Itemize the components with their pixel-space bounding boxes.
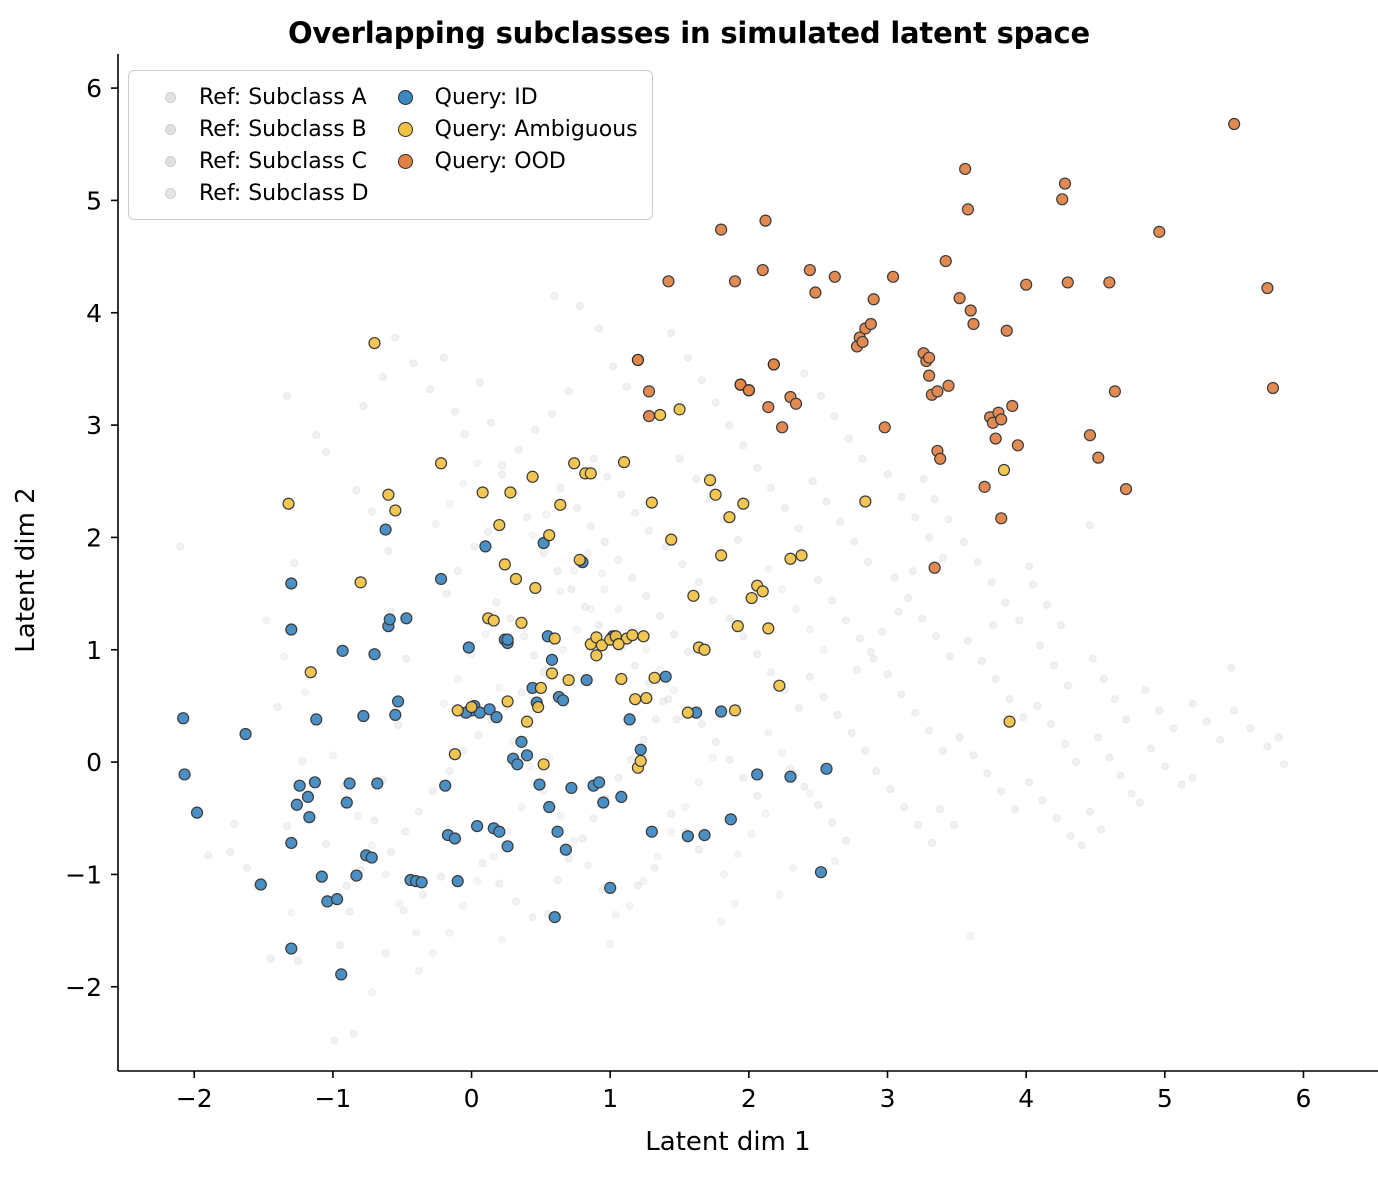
data-point [1053, 815, 1060, 822]
data-point [615, 556, 622, 563]
x-tick-label: −1 [314, 1084, 351, 1113]
data-point [369, 649, 380, 660]
data-point [350, 1030, 357, 1037]
data-point [267, 955, 274, 962]
y-tick-label: 2 [86, 523, 102, 552]
data-point [1109, 386, 1120, 397]
data-point [512, 898, 519, 905]
data-point [660, 671, 671, 682]
data-point [879, 422, 890, 433]
data-point [931, 496, 938, 503]
data-point [939, 747, 946, 754]
data-point [779, 586, 786, 593]
scatter-plot-figure: Overlapping subclasses in simulated late… [0, 0, 1378, 1178]
legend-item[interactable]: Ref: Subclass B [141, 113, 369, 145]
x-tick-label: 6 [1296, 1084, 1312, 1113]
data-point [725, 814, 736, 825]
data-point [295, 957, 302, 964]
data-point [616, 673, 627, 684]
data-point [795, 525, 802, 532]
data-point [873, 768, 880, 775]
data-point [563, 675, 574, 686]
data-point [779, 750, 786, 757]
data-point [1025, 563, 1032, 570]
data-point [1061, 741, 1068, 748]
data-point [396, 900, 403, 907]
data-point [384, 614, 395, 625]
data-point [460, 480, 467, 487]
data-point [475, 732, 482, 739]
data-point [912, 514, 919, 521]
data-point [837, 518, 844, 525]
data-point [302, 689, 309, 696]
data-point [684, 649, 691, 656]
data-point [329, 752, 336, 759]
data-point [752, 769, 763, 780]
data-point [558, 695, 569, 706]
data-point [635, 744, 646, 755]
data-point [395, 722, 402, 729]
data-point [192, 807, 203, 818]
data-point [474, 460, 481, 467]
legend-marker-icon [141, 92, 199, 103]
data-point [529, 532, 536, 539]
data-point [488, 615, 499, 626]
data-point [928, 839, 935, 846]
data-point [410, 360, 417, 367]
data-point [585, 550, 592, 557]
y-tick-label: −1 [65, 860, 102, 889]
data-point [1089, 655, 1096, 662]
data-point [806, 673, 813, 680]
data-point [493, 599, 500, 606]
data-point [1064, 682, 1071, 689]
data-point [502, 634, 513, 645]
legend-item-label: Ref: Subclass C [199, 149, 367, 174]
data-point [355, 577, 366, 588]
data-point [346, 908, 353, 915]
data-point [522, 716, 533, 727]
data-point [1228, 664, 1235, 671]
data-point [919, 615, 926, 622]
data-point [546, 668, 557, 679]
data-point [1203, 718, 1210, 725]
legend-dot [165, 124, 176, 135]
data-point [403, 655, 410, 662]
legend-column-reference: Ref: Subclass ARef: Subclass BRef: Subcl… [141, 81, 369, 209]
legend-item[interactable]: Ref: Subclass C [141, 145, 369, 177]
data-point [626, 902, 633, 909]
data-point [415, 808, 422, 815]
data-point [738, 498, 749, 509]
data-point [730, 705, 741, 716]
data-point [382, 871, 389, 878]
y-tick-label: 4 [86, 299, 102, 328]
legend-dot [398, 154, 413, 169]
data-point [1016, 617, 1023, 624]
data-point [716, 224, 727, 235]
data-point [527, 471, 538, 482]
data-point [1057, 622, 1064, 629]
data-point [587, 523, 594, 530]
data-point [1093, 452, 1104, 463]
data-point [426, 386, 433, 393]
data-point [915, 821, 922, 828]
data-point [1086, 808, 1093, 815]
data-point [585, 862, 592, 869]
data-point [724, 512, 735, 523]
data-point [565, 388, 572, 395]
data-point [177, 543, 184, 550]
data-point [609, 363, 616, 370]
data-point [668, 810, 675, 817]
data-point [970, 752, 977, 759]
data-point [1012, 806, 1019, 813]
x-tick-label: −2 [176, 1084, 213, 1113]
data-point [494, 520, 505, 531]
data-point [332, 894, 343, 905]
legend-item[interactable]: Query: Ambiguous [377, 113, 638, 145]
data-point [429, 788, 436, 795]
data-point [1104, 277, 1115, 288]
data-point [540, 550, 547, 557]
data-point [579, 835, 586, 842]
data-point [1012, 440, 1023, 451]
data-point [587, 606, 594, 613]
data-point [860, 496, 871, 507]
data-point [485, 528, 492, 535]
data-point [1189, 774, 1196, 781]
legend-item[interactable]: Ref: Subclass A [141, 81, 369, 113]
data-point [530, 652, 537, 659]
data-point [366, 852, 377, 863]
data-point [630, 694, 641, 705]
data-point [533, 702, 544, 713]
data-point [205, 852, 212, 859]
data-point [1267, 383, 1278, 394]
data-point [532, 426, 539, 433]
data-point [898, 691, 905, 698]
data-point [1043, 601, 1050, 608]
data-point [627, 630, 638, 641]
data-point [1034, 702, 1041, 709]
data-point [967, 933, 974, 940]
data-point [730, 276, 741, 287]
data-point [491, 712, 502, 723]
data-point [768, 359, 779, 370]
data-point [487, 419, 494, 426]
data-point [309, 777, 320, 788]
data-point [760, 215, 771, 226]
data-point [998, 788, 1005, 795]
data-point [644, 386, 655, 397]
legend-item[interactable]: Query: ID [377, 81, 638, 113]
data-point [901, 804, 908, 811]
data-point [926, 534, 933, 541]
data-point [331, 1037, 338, 1044]
data-point [590, 815, 597, 822]
data-point [643, 646, 650, 653]
data-point [1229, 119, 1240, 130]
data-point [632, 662, 639, 669]
data-point [785, 771, 796, 782]
data-point [178, 713, 189, 724]
data-point [552, 826, 563, 837]
data-point [1100, 675, 1107, 682]
data-point [518, 689, 525, 696]
data-point [263, 617, 270, 624]
data-point [451, 408, 458, 415]
data-point [383, 489, 394, 500]
data-point [674, 404, 685, 415]
data-point [341, 797, 352, 808]
data-point [288, 909, 295, 916]
data-point [726, 422, 733, 429]
legend-item[interactable]: Query: OOD [377, 145, 638, 177]
data-point [573, 626, 580, 633]
data-point [804, 265, 815, 276]
data-point [557, 813, 564, 820]
data-point [1050, 662, 1057, 669]
data-point [720, 871, 727, 878]
data-point [401, 613, 412, 624]
data-point [1247, 725, 1254, 732]
data-point [454, 675, 461, 682]
data-point [322, 841, 329, 848]
data-point [1128, 790, 1135, 797]
data-point [284, 823, 291, 830]
data-point [568, 586, 575, 593]
data-point [294, 780, 305, 791]
data-point [613, 639, 624, 650]
data-point [716, 706, 727, 717]
data-point [646, 826, 657, 837]
data-point [709, 597, 716, 604]
data-point [998, 465, 1009, 476]
data-point [526, 763, 533, 770]
data-point [734, 536, 741, 543]
data-point [891, 574, 898, 581]
data-point [1067, 833, 1074, 840]
legend-column-query: Query: IDQuery: AmbiguousQuery: OOD [377, 81, 638, 209]
data-point [651, 864, 658, 871]
data-point [988, 579, 995, 586]
data-point [1121, 484, 1132, 495]
data-point [316, 871, 327, 882]
data-point [659, 698, 666, 705]
data-point [956, 734, 963, 741]
data-point [968, 318, 979, 329]
data-point [635, 755, 646, 766]
data-point [337, 645, 348, 656]
data-point [806, 626, 813, 633]
data-point [598, 570, 605, 577]
data-point [796, 550, 807, 561]
data-point [705, 475, 716, 486]
data-point [302, 791, 313, 802]
data-point [480, 541, 491, 552]
data-point [996, 513, 1007, 524]
data-point [358, 711, 369, 722]
data-point [801, 783, 808, 790]
data-point [640, 736, 647, 743]
data-point [809, 478, 816, 485]
data-point [887, 786, 894, 793]
data-point [1147, 745, 1154, 752]
data-point [829, 271, 840, 282]
data-point [698, 720, 705, 727]
data-point [649, 672, 660, 683]
data-point [446, 500, 453, 507]
series-5 [283, 338, 1015, 774]
data-point [615, 606, 622, 613]
y-tick-label: 1 [86, 636, 102, 665]
data-point [400, 907, 407, 914]
data-point [1156, 707, 1163, 714]
data-point [496, 880, 503, 887]
data-point [557, 588, 564, 595]
data-point [243, 864, 250, 871]
y-tick-label: 5 [86, 186, 102, 215]
data-point [286, 943, 297, 954]
data-point [856, 635, 863, 642]
data-point [449, 833, 460, 844]
data-point [895, 608, 902, 615]
data-point [581, 675, 592, 686]
data-point [549, 633, 560, 644]
data-point [472, 821, 483, 832]
data-point [940, 256, 951, 267]
data-point [1037, 642, 1044, 649]
data-point [369, 338, 380, 349]
data-point [644, 411, 655, 422]
data-point [522, 750, 533, 761]
legend-marker-icon [141, 156, 199, 167]
data-point [1264, 743, 1271, 750]
data-point [461, 431, 468, 438]
data-point [829, 597, 836, 604]
data-point [505, 487, 516, 498]
data-point [1098, 826, 1105, 833]
data-point [1001, 325, 1012, 336]
legend-item[interactable]: Ref: Subclass D [141, 177, 369, 209]
data-point [368, 508, 375, 515]
data-point [460, 902, 467, 909]
data-point [1048, 720, 1055, 727]
data-point [657, 613, 664, 620]
data-point [806, 790, 813, 797]
data-point [654, 853, 661, 860]
data-point [452, 876, 463, 887]
data-point [732, 900, 739, 907]
y-tick-label: −2 [65, 973, 102, 1002]
data-point [518, 804, 525, 811]
data-point [939, 554, 946, 561]
data-point [765, 565, 772, 572]
series-0 [177, 292, 691, 1044]
data-point [842, 837, 849, 844]
data-point [932, 386, 943, 397]
data-point [372, 778, 383, 789]
data-point [732, 621, 743, 632]
data-point [791, 398, 802, 409]
data-point [937, 806, 944, 813]
data-point [466, 702, 477, 713]
data-point [496, 684, 503, 691]
data-point [762, 810, 769, 817]
data-point [632, 509, 639, 516]
data-point [865, 559, 872, 566]
data-point [1142, 687, 1149, 694]
data-point [834, 711, 841, 718]
data-point [924, 370, 935, 381]
data-point [274, 704, 281, 711]
data-point [845, 435, 852, 442]
data-point [682, 831, 693, 842]
data-point [688, 590, 699, 601]
data-point [336, 942, 343, 949]
data-point [1217, 736, 1224, 743]
data-point [884, 471, 891, 478]
data-point [754, 464, 761, 471]
data-point [291, 799, 302, 810]
data-point [1136, 799, 1143, 806]
data-point [544, 530, 555, 541]
legend-marker-icon [141, 188, 199, 199]
data-point [1062, 277, 1073, 288]
data-point [984, 770, 991, 777]
data-point [380, 524, 391, 535]
y-tick-label: 6 [86, 74, 102, 103]
data-point [726, 756, 733, 763]
data-point [438, 873, 445, 880]
data-point [311, 714, 322, 725]
data-point [1073, 759, 1080, 766]
data-point [479, 860, 486, 867]
data-point [785, 553, 796, 564]
legend-item-label: Query: ID [435, 85, 538, 110]
legend-marker-icon [377, 90, 435, 105]
data-point [820, 693, 827, 700]
data-point [548, 410, 555, 417]
data-point [385, 547, 392, 554]
data-point [1021, 279, 1032, 290]
legend-marker-icon [141, 124, 199, 135]
data-point [817, 392, 824, 399]
x-tick-label: 4 [1018, 1084, 1034, 1113]
data-point [699, 830, 710, 841]
data-point [360, 402, 367, 409]
legend-dot [165, 188, 176, 199]
data-point [507, 615, 514, 622]
data-point [379, 373, 386, 380]
data-point [1086, 522, 1093, 529]
data-point [322, 449, 329, 456]
legend-item-label: Query: OOD [435, 149, 566, 174]
data-point [698, 377, 705, 384]
data-point [590, 455, 597, 462]
data-point [670, 687, 677, 694]
data-point [989, 622, 996, 629]
data-point [402, 828, 409, 835]
data-point [227, 848, 234, 855]
data-point [476, 379, 483, 386]
data-point [313, 432, 320, 439]
data-point [695, 779, 702, 786]
data-point [765, 729, 772, 736]
data-point [482, 631, 489, 638]
data-point [718, 918, 725, 925]
